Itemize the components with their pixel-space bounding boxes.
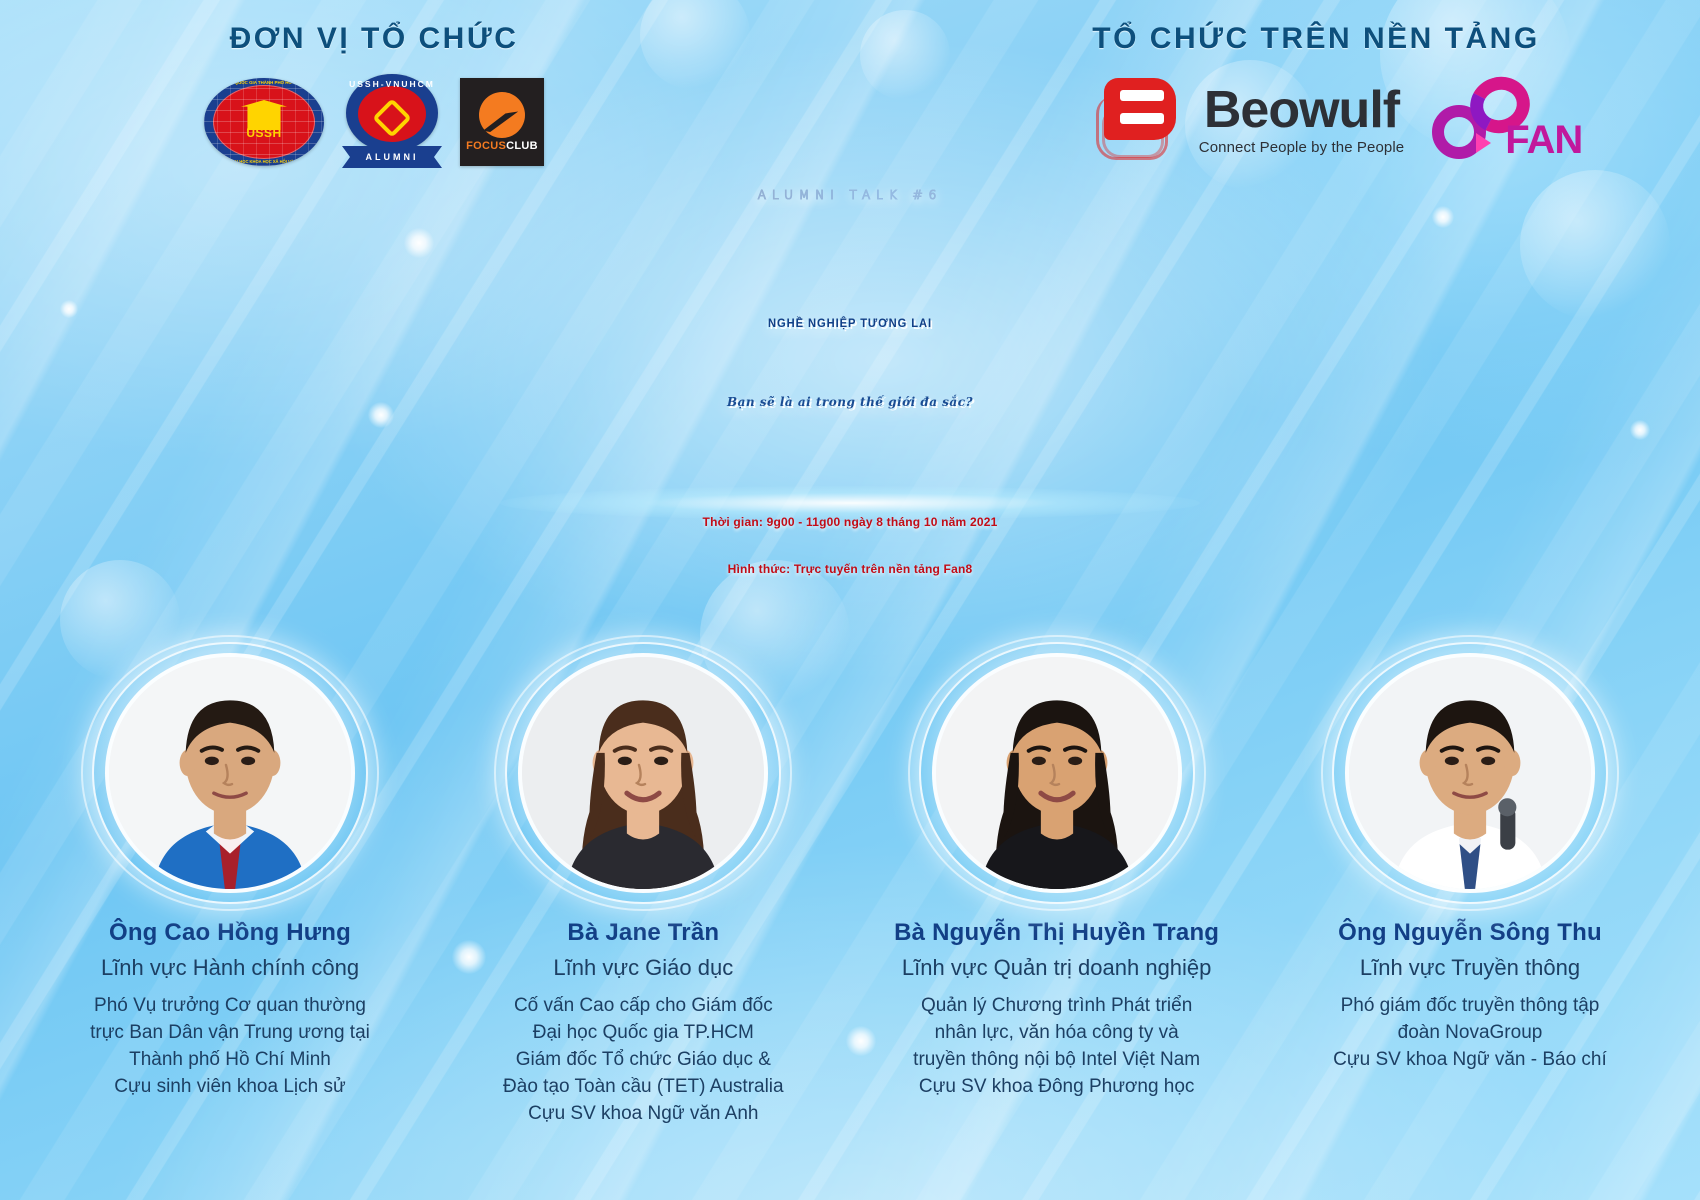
speaker-bio-line: Quản lý Chương trình Phát triển bbox=[857, 993, 1257, 1020]
speaker-bio-line: Cựu SV khoa Ngữ văn - Báo chí bbox=[1270, 1047, 1670, 1074]
focus-word: FOCUS bbox=[466, 140, 506, 152]
speaker-photo-wrap bbox=[1320, 640, 1620, 905]
event-time-line: Thời gian: 9g00 - 11g00 ngày 8 tháng 10 … bbox=[0, 515, 1700, 529]
beowulf-logo: Beowulf Connect People by the People bbox=[1090, 74, 1404, 168]
speaker-photo-wrap bbox=[80, 640, 380, 905]
speaker-field: Lĩnh vực Hành chính công bbox=[30, 955, 430, 981]
speaker-bio-line: Đại học Quốc gia TP.HCM bbox=[443, 1020, 843, 1047]
speaker-bio-line: Phó Vụ trưởng Cơ quan thường bbox=[30, 993, 430, 1020]
speaker-photo bbox=[522, 657, 764, 889]
speaker-card: Ông Cao Hồng Hưng Lĩnh vực Hành chính cô… bbox=[30, 640, 430, 1128]
paper-plane-icon bbox=[479, 92, 525, 138]
bokeh-circle bbox=[860, 10, 950, 100]
speaker-photo bbox=[936, 657, 1178, 889]
focus-club-logo: FOCUSCLUB bbox=[460, 78, 544, 166]
speaker-bio: Phó Vụ trưởng Cơ quan thườngtrực Ban Dân… bbox=[30, 993, 430, 1101]
poster-subtitle: NGHỀ NGHIỆP TƯƠNG LAI bbox=[60, 316, 1641, 330]
organizers-block: ĐƠN VỊ TỔ CHỨC USSH ĐẠI HỌC QUỐC GIA THÀ… bbox=[64, 22, 684, 170]
event-poster: ĐƠN VỊ TỔ CHỨC USSH ĐẠI HỌC QUỐC GIA THÀ… bbox=[0, 0, 1700, 1200]
speaker-name: Ông Cao Hồng Hưng bbox=[30, 919, 430, 947]
speaker-name: Bà Nguyễn Thị Huyền Trang bbox=[857, 919, 1257, 947]
speaker-bio-line: trực Ban Dân vận Trung ương tại bbox=[30, 1020, 430, 1047]
poster-main-title: ALUMNI TALK #6 bbox=[0, 188, 1700, 202]
speaker-photo-wrap bbox=[907, 640, 1207, 905]
speaker-photo-wrap bbox=[493, 640, 793, 905]
speaker-bio-line: Cựu SV khoa Ngữ văn Anh bbox=[443, 1101, 843, 1128]
speaker-bio: Cố vấn Cao cấp cho Giám đốcĐại học Quốc … bbox=[443, 993, 843, 1128]
poster-script-title: Bạn sẽ là ai trong thế giới đa sắc? bbox=[0, 395, 1700, 409]
organizer-logo-row: USSH ĐẠI HỌC QUỐC GIA THÀNH PHỐ HỒ CHÍ M… bbox=[64, 74, 684, 170]
beowulf-tagline: Connect People by the People bbox=[1199, 139, 1404, 156]
platform-block: TỔ CHỨC TRÊN NỀN TẢNG Beowulf Connect Pe… bbox=[996, 22, 1636, 168]
speakers-row: Ông Cao Hồng Hưng Lĩnh vực Hành chính cô… bbox=[0, 640, 1700, 1128]
speaker-portrait-drawing bbox=[109, 657, 351, 889]
speaker-name: Ông Nguyễn Sông Thu bbox=[1270, 919, 1670, 947]
fan8-mark-icon: FAN bbox=[1430, 75, 1542, 167]
organizers-title: ĐƠN VỊ TỔ CHỨC bbox=[64, 22, 684, 56]
speaker-card: Bà Jane Trần Lĩnh vực Giáo dục Cố vấn Ca… bbox=[443, 640, 843, 1128]
speaker-card: Ông Nguyễn Sông Thu Lĩnh vực Truyền thôn… bbox=[1270, 640, 1670, 1128]
beowulf-wordmark: Beowulf bbox=[1199, 86, 1404, 135]
speaker-bio: Quản lý Chương trình Phát triểnnhân lực,… bbox=[857, 993, 1257, 1101]
speaker-field: Lĩnh vực Quản trị doanh nghiệp bbox=[857, 955, 1257, 981]
seal-rim-top: ĐẠI HỌC QUỐC GIA THÀNH PHỐ HỒ CHÍ MINH bbox=[204, 80, 324, 85]
speaker-bio-line: đoàn NovaGroup bbox=[1270, 1020, 1670, 1047]
speaker-bio-line: Đào tạo Toàn cầu (TET) Australia bbox=[443, 1074, 843, 1101]
club-word: CLUB bbox=[506, 140, 538, 152]
platform-logo-row: Beowulf Connect People by the People FAN bbox=[996, 74, 1636, 168]
speaker-bio-line: Phó giám đốc truyền thông tập bbox=[1270, 993, 1670, 1020]
speaker-field: Lĩnh vực Giáo dục bbox=[443, 955, 843, 981]
beowulf-mark-icon bbox=[1090, 74, 1186, 168]
seal-rim-bottom: TRƯỜNG ĐẠI HỌC KHOA HỌC XÃ HỘI VÀ NHÂN V… bbox=[204, 159, 324, 164]
speaker-portrait-drawing bbox=[522, 657, 764, 889]
speaker-bio: Phó giám đốc truyền thông tậpđoàn NovaGr… bbox=[1270, 993, 1670, 1074]
sparkle bbox=[1432, 206, 1454, 228]
speaker-bio-line: Giám đốc Tổ chức Giáo dục & bbox=[443, 1047, 843, 1074]
speaker-photo bbox=[1349, 657, 1591, 889]
speaker-bio-line: Cựu SV khoa Đông Phương học bbox=[857, 1074, 1257, 1101]
sparkle bbox=[1630, 420, 1650, 440]
ussh-vnuhcm-seal-logo: USSH ĐẠI HỌC QUỐC GIA THÀNH PHỐ HỒ CHÍ M… bbox=[204, 78, 324, 166]
speaker-name: Bà Jane Trần bbox=[443, 919, 843, 947]
sparkle bbox=[404, 228, 434, 258]
speaker-bio-line: truyền thông nội bộ Intel Việt Nam bbox=[857, 1047, 1257, 1074]
speaker-bio-line: Thành phố Hồ Chí Minh bbox=[30, 1047, 430, 1074]
fan-wordmark: FAN bbox=[1505, 118, 1582, 163]
speaker-bio-line: nhân lực, văn hóa công ty và bbox=[857, 1020, 1257, 1047]
speaker-portrait-drawing bbox=[936, 657, 1178, 889]
speaker-portrait-drawing bbox=[1349, 657, 1591, 889]
alumni-arc-text: USSH-VNUHCM bbox=[340, 79, 444, 89]
speaker-bio-line: Cựu sinh viên khoa Lịch sử bbox=[30, 1074, 430, 1101]
fan8-logo: FAN bbox=[1430, 75, 1542, 167]
speaker-bio-line: Cố vấn Cao cấp cho Giám đốc bbox=[443, 993, 843, 1020]
speaker-card: Bà Nguyễn Thị Huyền Trang Lĩnh vực Quản … bbox=[857, 640, 1257, 1128]
speaker-field: Lĩnh vực Truyền thông bbox=[1270, 955, 1670, 981]
event-format-line: Hình thức: Trực tuyến trên nền tảng Fan8 bbox=[0, 562, 1700, 576]
ussh-alumni-logo: USSH-VNUHCM ALUMNI bbox=[340, 74, 444, 170]
speaker-photo bbox=[109, 657, 351, 889]
platform-title: TỔ CHỨC TRÊN NỀN TẢNG bbox=[996, 22, 1636, 56]
alumni-ribbon-text: ALUMNI bbox=[342, 146, 442, 168]
